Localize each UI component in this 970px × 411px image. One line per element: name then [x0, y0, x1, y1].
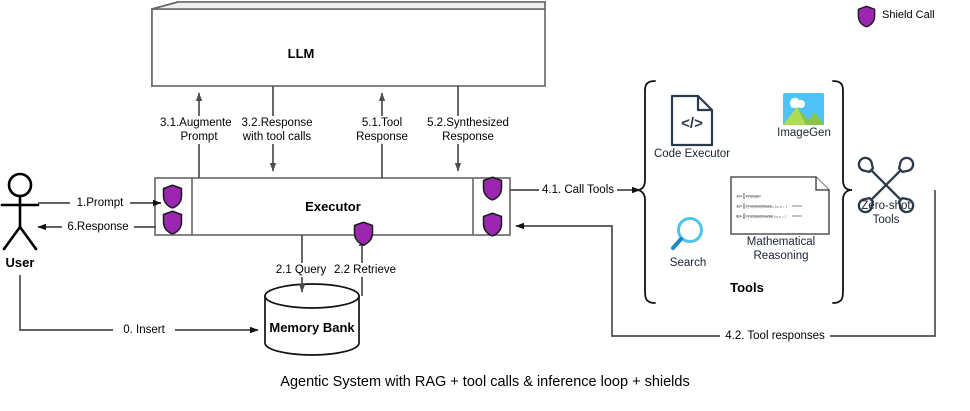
diagram-canvas: </> A₀= 1/P ∫ s(x)dx Aₙ= 2/P ∫ s(x)cos(2…: [0, 0, 970, 411]
edge-label-call-tools: 4.1. Call Tools: [539, 183, 617, 197]
user-actor[interactable]: [2, 174, 38, 249]
shield-icon-executor-in-top[interactable]: [164, 185, 182, 208]
tool-label-search: Search: [648, 257, 728, 271]
edge-label-response-tool-calls: 3.2.Response with tool calls: [231, 116, 323, 144]
diagram-caption: Agentic System with RAG + tool calls & i…: [0, 374, 970, 390]
edge-label-augmented-prompt: 3.1.Augmented Prompt: [156, 116, 242, 144]
tools-group-label: Tools: [702, 281, 792, 295]
svg-text:Bₙ= 2/P ∫ s(x)sin(2πnx)dx fo: Bₙ= 2/P ∫ s(x)sin(2πnx)dx for n ≥ 1: [736, 215, 787, 219]
memory-bank-label: Memory Bank: [252, 321, 372, 335]
svg-text:A₀= 1/P ∫ s(x)dx: A₀= 1/P ∫ s(x)dx: [736, 195, 760, 199]
llm-node[interactable]: [152, 2, 545, 86]
svg-text:Aₙ= 2/P ∫ s(x)cos(2πnx)dx fo: Aₙ= 2/P ∫ s(x)cos(2πnx)dx for n ≥ 1: [736, 205, 788, 209]
shield-icon-legend: [858, 6, 874, 27]
executor-label: Executor: [273, 200, 393, 214]
tool-label-zero-shot-tools: Zero-shot Tools: [846, 200, 926, 227]
magnifier-icon[interactable]: [673, 219, 702, 249]
shield-icon-executor-in-bottom[interactable]: [164, 211, 182, 234]
edge-label-tool-responses: 4.2. Tool responses: [720, 329, 830, 343]
shield-icon-executor-memory[interactable]: [355, 222, 373, 245]
edge-label-response: 6.Response: [62, 220, 134, 234]
code-document-icon[interactable]: </>: [672, 96, 712, 145]
edge-label-synthesized-response: 5.2.Synthesized Response: [422, 116, 514, 144]
edge-insert: [20, 275, 258, 330]
edge-label-retrieve: 2.2 Retrieve: [329, 263, 401, 277]
edge-label-query: 2.1 Query: [270, 263, 332, 277]
edge-label-insert: 0. Insert: [113, 323, 175, 337]
image-picture-icon[interactable]: [783, 93, 824, 125]
llm-label: LLM: [251, 47, 351, 61]
tool-label-code-executor: Code Executor: [644, 148, 740, 162]
tool-label-imagegen: ImageGen: [759, 127, 849, 141]
svg-text:</>: </>: [681, 115, 703, 132]
legend-shield-label: Shield Call: [882, 9, 935, 21]
user-label: User: [0, 256, 60, 270]
shield-icon-executor-out-bottom[interactable]: [484, 213, 502, 236]
edge-label-prompt: 1.Prompt: [70, 196, 130, 210]
math-document-icon[interactable]: A₀= 1/P ∫ s(x)dx Aₙ= 2/P ∫ s(x)cos(2πnx)…: [731, 177, 829, 234]
edge-label-tool-response: 5.1.Tool Response: [349, 116, 415, 144]
shield-icon-executor-out-top[interactable]: [484, 177, 502, 200]
tool-label-mathematical-reasoning: Mathematical Reasoning: [726, 236, 836, 263]
